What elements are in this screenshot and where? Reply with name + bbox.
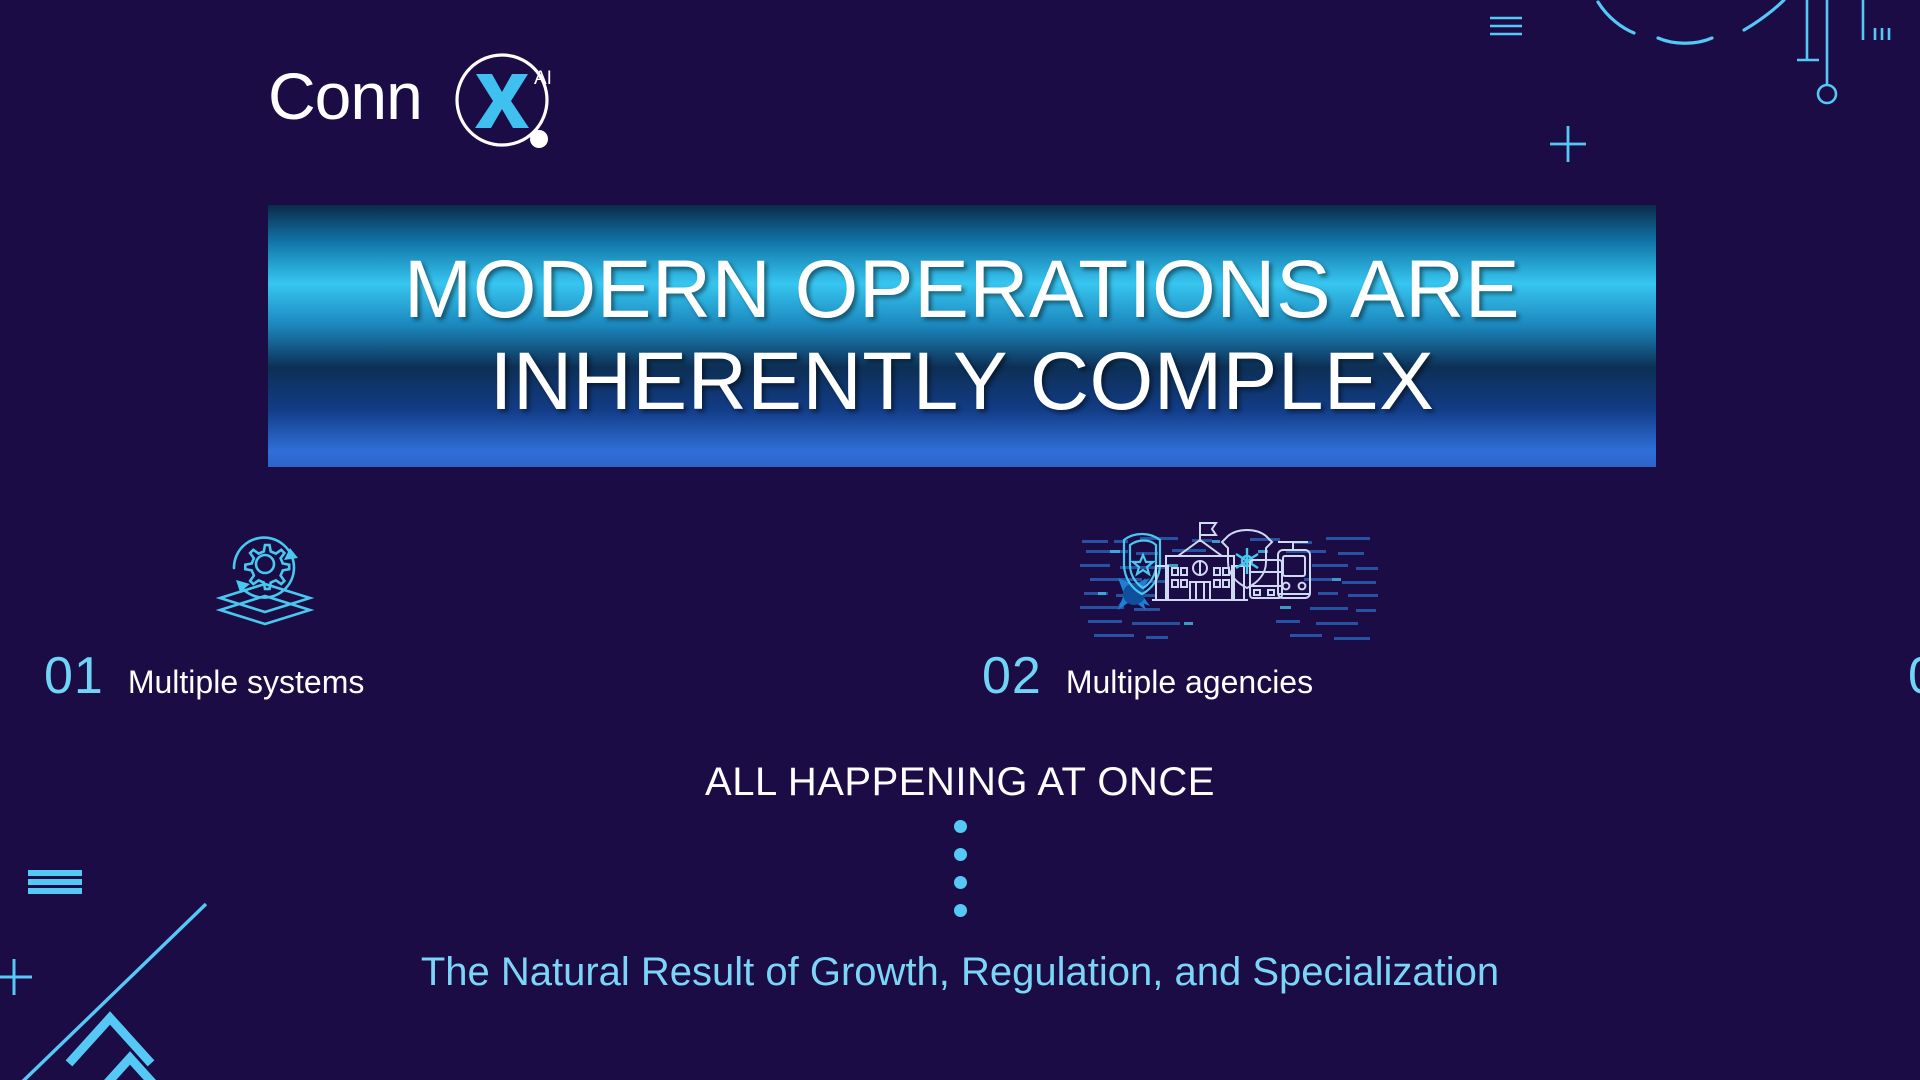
brand-logo[interactable]: Conn AI — [268, 52, 588, 144]
logo-superscript-ai: AI — [534, 68, 552, 89]
tagline-text: The Natural Result of Growth, Regulation… — [0, 950, 1920, 995]
separator-dot — [954, 876, 967, 889]
separator-dot — [954, 820, 967, 833]
hamburger-lines-icon — [1489, 14, 1523, 40]
arc-segments-decoration — [1596, 0, 1906, 60]
double-chevron-up-icon — [72, 1010, 222, 1080]
pillars-row: 01 Multiple systems — [0, 510, 1920, 720]
page-title-line-1: MODERN OPERATIONS ARE — [404, 246, 1520, 334]
pillar-multiple-agencies: 02 Multiple agencies — [470, 510, 940, 710]
pillar-1-label: Multiple systems — [128, 666, 365, 698]
logo-x-mark-icon: AI — [446, 48, 564, 156]
all-happening-at-once-text: ALL HAPPENING AT ONCE — [0, 760, 1920, 805]
vertical-dots-separator — [0, 820, 1920, 917]
separator-dot — [954, 848, 967, 861]
separator-dot — [954, 904, 967, 917]
pillar-1-number: 01 — [44, 650, 104, 702]
logo-wordmark: Conn — [268, 54, 422, 138]
pillar-1-caption: 01 Multiple systems — [44, 650, 364, 702]
page-title-line-2: INHERENTLY COMPLEX — [490, 338, 1435, 426]
pillar-multiple-data-sources: 03 Multiple data sources — [940, 510, 1430, 710]
pillar-multiple-decisions: 04 Multiple decisions — [1430, 510, 1920, 710]
slide-canvas: Conn AI MODERN OPERATIONS ARE INHERENTLY… — [0, 0, 1920, 1080]
plus-icon-top-right — [1548, 124, 1588, 164]
pillar-multiple-systems: 01 Multiple systems — [0, 510, 470, 710]
pendulum-lines-decoration — [1795, 0, 1920, 108]
title-banner: MODERN OPERATIONS ARE INHERENTLY COMPLEX — [268, 205, 1656, 467]
layers-gear-icon — [212, 522, 322, 637]
